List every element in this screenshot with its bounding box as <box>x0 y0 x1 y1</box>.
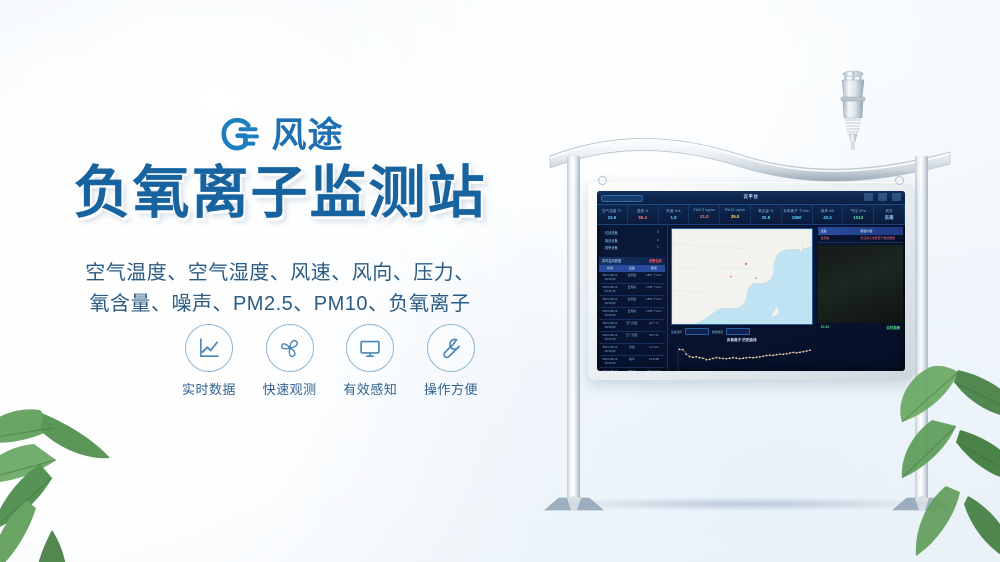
table-row[interactable]: 2021-08-13 10:32:05监测站1857 个/cm³ <box>599 272 665 284</box>
page-title: 负氧离子监测站 <box>0 163 560 225</box>
center-column: 设备选择 数据类型 负氧离子 历史曲线 <box>668 225 816 371</box>
device-summary: 在线设备3离线设备0报警设备1 <box>599 227 665 257</box>
table-cell: 2021-08-13 10:32:05 <box>599 273 621 281</box>
line-chart-icon-circle <box>185 324 233 372</box>
brand-name: 风途 <box>271 118 343 153</box>
map-controls[interactable]: 设备选择 数据类型 <box>671 328 813 335</box>
feature-item-effective-sensing[interactable]: 有效感知 <box>336 324 404 398</box>
kpi-value: 56.4 <box>628 215 658 220</box>
summary-label: 在线设备 <box>605 230 618 235</box>
alert-column-header: 设备 <box>821 229 861 233</box>
feature-item-fast-observation[interactable]: 快速观测 <box>256 324 324 398</box>
feature-item-realtime-data[interactable]: 实时数据 <box>175 324 243 398</box>
table-cell: 1857 个/cm³ <box>643 273 665 281</box>
table-cell: 2021-08-13 10:24:05 <box>599 369 621 371</box>
ground-shadow <box>540 497 960 511</box>
alert-cell: 监测站 <box>821 236 861 240</box>
table-row[interactable]: 2021-08-13 10:31:05监测站1784 个/cm³ <box>599 284 665 296</box>
kpi-label: 噪声 dB <box>813 208 843 213</box>
table-cell: 56.1 % <box>643 333 665 341</box>
table-row[interactable]: 2021-08-13 10:26:05风速1.6 m/s <box>599 344 665 356</box>
kpi-value: 东南 <box>874 215 904 221</box>
history-line-chart[interactable]: 00:0000:3001:0001:3002:0002:3003:0003:30… <box>671 344 813 372</box>
camera-footer: 10:32 实时视频 <box>818 323 903 330</box>
table-cell: 噪声 <box>621 357 643 365</box>
dashboard-header: 云平台 <box>597 191 905 205</box>
table-cell: 2021-08-13 10:27:05 <box>599 333 621 341</box>
table-cell: 1765 个/cm³ <box>643 309 665 317</box>
kpi-card[interactable]: 风向东南 <box>874 205 905 224</box>
parameter-line-1: 空气温度、空气湿度、风速、风向、压力、 <box>0 258 560 289</box>
fan-radar-icon-circle <box>266 324 314 372</box>
kpi-label: 风向 <box>874 208 904 213</box>
table-cell: 2021-08-13 10:30:05 <box>599 297 621 305</box>
table-cell: PM2.5 <box>621 369 643 371</box>
kpi-value: 20.9 <box>751 215 781 220</box>
mount-ring-right <box>895 176 904 185</box>
table-cell: 2021-08-13 10:31:05 <box>599 285 621 293</box>
monitoring-station-product: 云平台 空气温度 ℃22.6湿度 %56.4风速 m/s1.8PM2.5 ug/… <box>520 60 980 540</box>
kpi-value: 22.6 <box>597 215 627 220</box>
summary-value: 1 <box>657 245 659 250</box>
kpi-label: 湿度 % <box>628 208 658 213</box>
lcd-screen[interactable]: 云平台 空气温度 ℃22.6湿度 %56.4风速 m/s1.8PM2.5 ug/… <box>597 191 905 371</box>
table-cell: 风速 <box>621 345 643 353</box>
alert-table-header: 设备报警内容 <box>818 227 903 235</box>
table-cell: 41.8 dB <box>643 357 665 365</box>
kpi-card[interactable]: PM2.5 ug/m³21.0 <box>689 205 720 224</box>
map-control-right-label: 数据类型 <box>712 330 723 334</box>
header-icon[interactable] <box>878 193 887 201</box>
monitor-icon-circle <box>346 324 394 372</box>
dashboard-title: 云平台 <box>597 194 905 200</box>
table-cell: 空气湿度 <box>621 333 643 341</box>
camera-label: 实时视频 <box>886 325 900 330</box>
alert-row[interactable]: 监测站负氧离子浓度低于阈值报警 <box>818 235 903 243</box>
display-panel[interactable]: 云平台 空气温度 ℃22.6湿度 %56.4风速 m/s1.8PM2.5 ug/… <box>588 182 914 380</box>
table-cell: 2021-08-13 10:29:05 <box>599 309 621 317</box>
table-column-header: 时间 <box>599 266 621 270</box>
support-post-left <box>567 156 580 502</box>
ultrasonic-weather-sensor-icon <box>832 68 874 150</box>
kpi-label: 空气温度 ℃ <box>597 208 627 213</box>
table-row[interactable]: 2021-08-13 10:29:05监测站1765 个/cm³ <box>599 308 665 320</box>
left-column: 在线设备3离线设备0报警设备1 实时监测数据 报警信息 时间设备数值 2021-… <box>597 225 668 371</box>
table-cell: 2021-08-13 10:28:05 <box>599 321 621 329</box>
fan-radar-icon <box>277 335 303 361</box>
wrench-icon-circle <box>427 324 475 372</box>
alert-cell: 负氧离子浓度低于阈值报警 <box>860 236 900 240</box>
dashboard-body: 在线设备3离线设备0报警设备1 实时监测数据 报警信息 时间设备数值 2021-… <box>597 225 905 371</box>
kpi-value: 35.0 <box>720 214 750 219</box>
table-cell: 2021-08-13 10:25:05 <box>599 357 621 365</box>
marketing-copy: 风途 负氧离子监测站 空气温度、空气湿度、风速、风向、压力、 氧含量、噪声、PM… <box>0 0 560 562</box>
kpi-label: 负氧离子 个/cm³ <box>782 208 812 213</box>
kpi-value: 1860 <box>782 215 812 220</box>
camera-feed[interactable] <box>818 245 903 323</box>
table-row[interactable]: 2021-08-13 10:25:05噪声41.8 dB <box>599 356 665 368</box>
map-control-left-select[interactable] <box>685 328 709 335</box>
china-map[interactable] <box>671 228 813 325</box>
support-post-right <box>915 156 928 502</box>
feature-label: 快速观测 <box>256 379 324 398</box>
kpi-card[interactable]: 氧含量 %20.9 <box>751 205 782 224</box>
kpi-card[interactable]: 噪声 dB42.3 <box>813 205 844 224</box>
kpi-value: 42.3 <box>813 215 843 220</box>
table-cell: 监测站 <box>621 309 643 317</box>
alert-table-body[interactable]: 监测站负氧离子浓度低于阈值报警 <box>818 235 903 243</box>
promo-banner: 风途 负氧离子监测站 空气温度、空气湿度、风速、风向、压力、 氧含量、噪声、PM… <box>0 0 1000 562</box>
chart-title: 负氧离子 历史曲线 <box>671 338 813 343</box>
kpi-card[interactable]: 气压 hPa1013 <box>843 205 874 224</box>
table-row[interactable]: 2021-08-13 10:27:05空气湿度56.1 % <box>599 332 665 344</box>
history-line-chart-graphic: 00:0000:3001:0001:3002:0002:3003:0003:30… <box>671 344 813 372</box>
map-control-left-label: 设备选择 <box>671 330 682 334</box>
table-cell: 监测站 <box>621 297 643 305</box>
table-row[interactable]: 2021-08-13 10:24:05PM2.520.4 ug/m³ <box>599 368 665 371</box>
summary-label: 报警设备 <box>605 245 618 250</box>
kpi-value: 1.8 <box>659 215 689 220</box>
summary-label: 离线设备 <box>605 238 618 243</box>
table-body[interactable]: 2021-08-13 10:32:05监测站1857 个/cm³2021-08-… <box>599 272 665 371</box>
china-map-graphic <box>672 229 812 324</box>
header-icon[interactable] <box>892 193 901 201</box>
device-summary-row: 在线设备3 <box>605 230 659 235</box>
feature-label: 操作方便 <box>417 379 485 398</box>
kpi-label: PM2.5 ug/m³ <box>689 208 719 212</box>
parameter-line-2: 氧含量、噪声、PM2.5、PM10、负氧离子 <box>0 289 560 320</box>
feature-label: 实时数据 <box>175 379 243 398</box>
kpi-card[interactable]: 空气温度 ℃22.6 <box>597 205 628 224</box>
table-cell: 1803 个/cm³ <box>643 297 665 305</box>
wave-canopy <box>548 128 952 188</box>
kpi-card[interactable]: 风速 m/s1.8 <box>659 205 690 224</box>
header-icon-group[interactable] <box>864 193 901 201</box>
right-column: 设备报警内容 监测站负氧离子浓度低于阈值报警 10:32 实时视频 <box>816 225 905 371</box>
data-table-header: 实时监测数据 报警信息 <box>599 257 665 265</box>
feature-label: 有效感知 <box>336 379 404 398</box>
monitor-icon <box>357 335 383 361</box>
kpi-value: 21.0 <box>689 214 719 219</box>
table-column-header: 设备 <box>621 266 643 270</box>
kpi-card[interactable]: 负氧离子 个/cm³1860 <box>782 205 813 224</box>
table-cell: 20.4 ug/m³ <box>643 369 665 371</box>
table-cell: 22.7 ℃ <box>643 321 665 329</box>
kpi-value: 1013 <box>843 215 873 220</box>
kpi-card[interactable]: 湿度 %56.4 <box>628 205 659 224</box>
kpi-label: 风速 m/s <box>659 208 689 213</box>
alarm-label: 报警信息 <box>649 258 662 263</box>
table-cell: 1784 个/cm³ <box>643 285 665 293</box>
table-column-header: 数值 <box>643 266 665 270</box>
camera-timestamp: 10:32 <box>821 325 830 330</box>
device-summary-row: 报警设备1 <box>605 245 659 250</box>
wind-g-logo-icon <box>216 112 262 158</box>
table-row[interactable]: 2021-08-13 10:30:05监测站1803 个/cm³ <box>599 296 665 308</box>
table-cell: 空气温度 <box>621 321 643 329</box>
feature-item-easy-operation[interactable]: 操作方便 <box>417 324 485 398</box>
table-cell: 监测站 <box>621 273 643 281</box>
table-cell: 1.6 m/s <box>643 345 665 353</box>
mount-ring-left <box>598 176 607 185</box>
alert-column-header: 报警内容 <box>860 229 900 233</box>
cloud-platform-dashboard[interactable]: 云平台 空气温度 ℃22.6湿度 %56.4风速 m/s1.8PM2.5 ug/… <box>597 191 905 371</box>
map-control-right-select[interactable] <box>726 328 750 335</box>
header-icon[interactable] <box>864 193 873 201</box>
table-cell: 监测站 <box>621 285 643 293</box>
table-cell: 2021-08-13 10:26:05 <box>599 345 621 353</box>
summary-value: 3 <box>657 230 659 235</box>
table-row[interactable]: 2021-08-13 10:28:05空气温度22.7 ℃ <box>599 320 665 332</box>
summary-value: 0 <box>657 238 659 243</box>
feature-row: 实时数据 快速观测 <box>175 324 485 398</box>
kpi-label: 氧含量 % <box>751 208 781 213</box>
parameter-list: 空气温度、空气湿度、风速、风向、压力、 氧含量、噪声、PM2.5、PM10、负氧… <box>0 258 560 320</box>
kpi-label: PM10 ug/m³ <box>720 208 750 212</box>
line-chart-icon <box>196 335 222 361</box>
table-column-headers: 时间设备数值 <box>599 265 665 272</box>
kpi-label: 气压 hPa <box>843 208 873 213</box>
device-summary-row: 离线设备0 <box>605 238 659 243</box>
kpi-strip: 空气温度 ℃22.6湿度 %56.4风速 m/s1.8PM2.5 ug/m³21… <box>597 205 905 225</box>
wrench-icon <box>438 335 464 361</box>
kpi-card[interactable]: PM10 ug/m³35.0 <box>720 205 751 224</box>
table-title: 实时监测数据 <box>602 258 621 263</box>
brand-logo: 风途 <box>0 112 560 158</box>
